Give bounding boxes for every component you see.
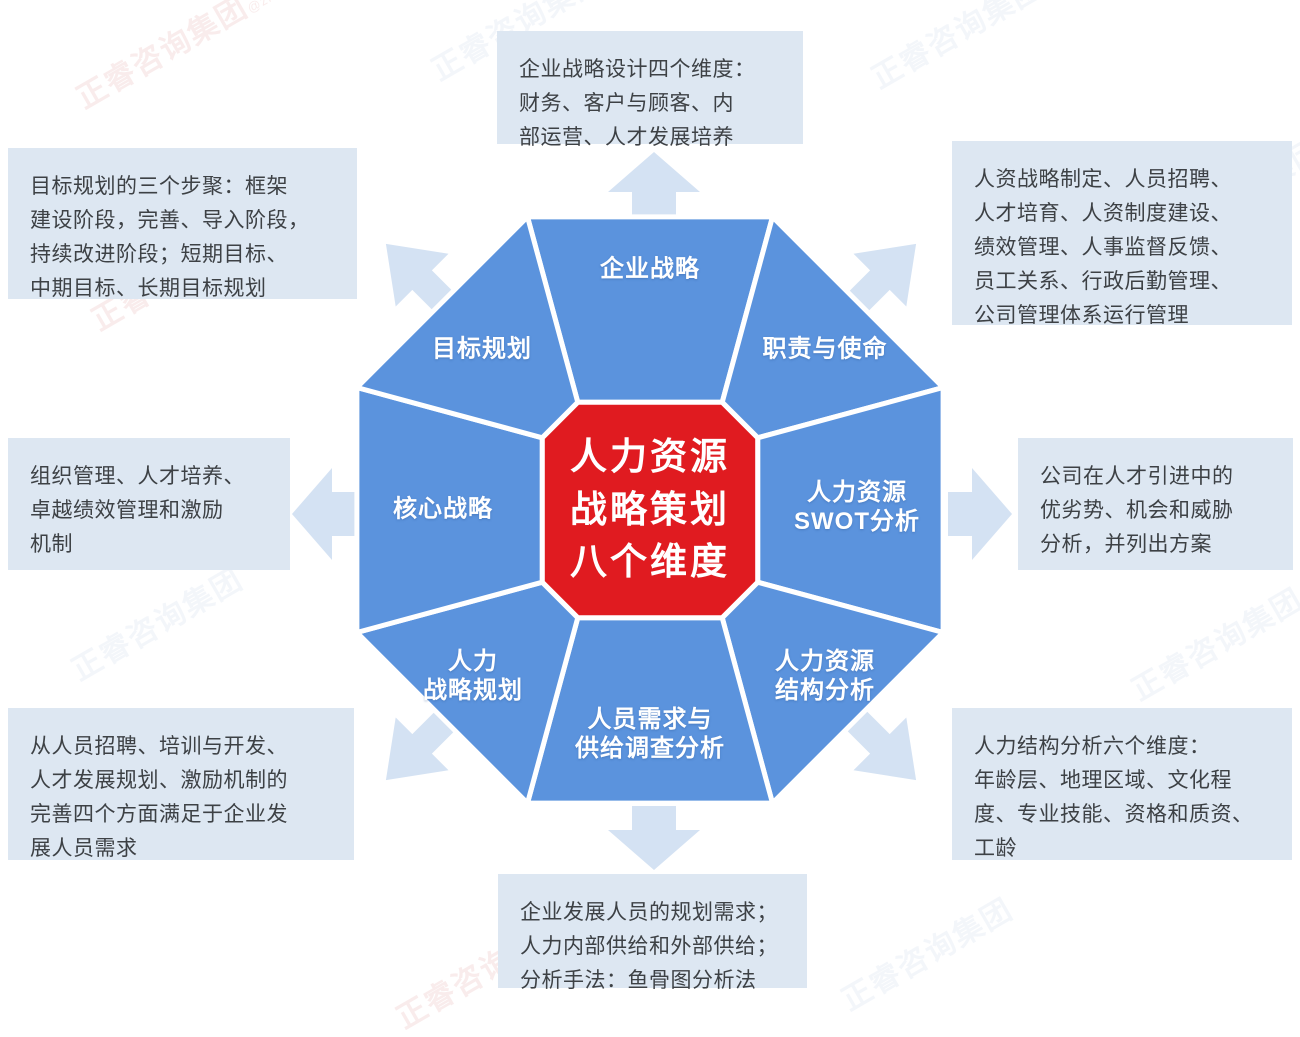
callout-line: 机制 — [30, 528, 270, 562]
watermark: 正睿咨询集团 — [832, 885, 1020, 1019]
callout-line: 企业发展人员的规划需求； — [520, 896, 787, 930]
diagram-canvas: 正睿咨询集团@zrtg.com 正睿咨询集团 正睿咨询集团 正睿咨询集团 正睿咨… — [0, 0, 1300, 1018]
callout-left[interactable]: 组织管理、人才培养、 卓越绩效管理和激励 机制 — [8, 438, 290, 570]
callout-line: 建设阶段，完善、导入阶段， — [30, 204, 337, 238]
callout-top-left[interactable]: 目标规划的三个步聚：框架 建设阶段，完善、导入阶段， 持续改进阶段；短期目标、 … — [8, 148, 357, 299]
callout-line: 展人员需求 — [30, 832, 334, 866]
callout-line: 员工关系、行政后勤管理、 — [974, 265, 1272, 299]
callout-line: 中期目标、长期目标规划 — [30, 272, 337, 306]
callout-line: 人才培育、人资制度建设、 — [974, 197, 1272, 231]
octagon-segments — [330, 190, 970, 830]
callout-line: 持续改进阶段；短期目标、 — [30, 238, 337, 272]
callout-line: 人力结构分析六个维度： — [974, 730, 1272, 764]
octagon-wheel: 人力资源 战略策划 八个维度 企业战略 职责与使命 人力资源 SWOT分析 人力… — [330, 190, 970, 830]
callout-line: 卓越绩效管理和激励 — [30, 494, 270, 528]
callout-line: 绩效管理、人事监督反馈、 — [974, 231, 1272, 265]
callout-line: 分析，并列出方案 — [1040, 528, 1273, 562]
callout-line: 分析手法：鱼骨图分析法 — [520, 964, 787, 998]
callout-line: 企业战略设计四个维度： — [519, 53, 783, 87]
callout-line: 公司管理体系运行管理 — [974, 299, 1272, 333]
watermark: 正睿咨询集团@zrtg.com — [67, 0, 318, 117]
callout-line: 优劣势、机会和威胁 — [1040, 494, 1273, 528]
callout-line: 组织管理、人才培养、 — [30, 460, 270, 494]
callout-right[interactable]: 公司在人才引进中的 优劣势、机会和威胁 分析，并列出方案 — [1018, 438, 1293, 570]
callout-line: 年龄层、地理区域、文化程 — [974, 764, 1272, 798]
callout-line: 人才发展规划、激励机制的 — [30, 764, 334, 798]
callout-line: 从人员招聘、培训与开发、 — [30, 730, 334, 764]
watermark: 正睿咨询集团 — [862, 0, 1050, 97]
callout-line: 完善四个方面满足于企业发 — [30, 798, 334, 832]
watermark: 正睿咨询集团 — [62, 555, 250, 689]
callout-line: 财务、客户与顾客、内 — [519, 87, 783, 121]
callout-line: 人力内部供给和外部供给； — [520, 930, 787, 964]
callout-top-right[interactable]: 人资战略制定、人员招聘、 人才培育、人资制度建设、 绩效管理、人事监督反馈、 员… — [952, 141, 1292, 325]
callout-line: 部运营、人才发展培养 — [519, 121, 783, 155]
callout-bottom-right[interactable]: 人力结构分析六个维度： 年龄层、地理区域、文化程 度、专业技能、资格和质资、 工… — [952, 708, 1292, 860]
core-octagon — [542, 402, 757, 617]
callout-line: 公司在人才引进中的 — [1040, 460, 1273, 494]
callout-line: 人资战略制定、人员招聘、 — [974, 163, 1272, 197]
callout-top[interactable]: 企业战略设计四个维度： 财务、客户与顾客、内 部运营、人才发展培养 — [497, 31, 803, 144]
callout-line: 度、专业技能、资格和质资、 — [974, 798, 1272, 832]
callout-bottom-left[interactable]: 从人员招聘、培训与开发、 人才发展规划、激励机制的 完善四个方面满足于企业发 展… — [8, 708, 354, 860]
watermark: 正睿咨询集团 — [1122, 575, 1300, 709]
callout-line: 目标规划的三个步聚：框架 — [30, 170, 337, 204]
callout-bottom[interactable]: 企业发展人员的规划需求； 人力内部供给和外部供给； 分析手法：鱼骨图分析法 — [498, 874, 807, 988]
callout-line: 工龄 — [974, 832, 1272, 866]
